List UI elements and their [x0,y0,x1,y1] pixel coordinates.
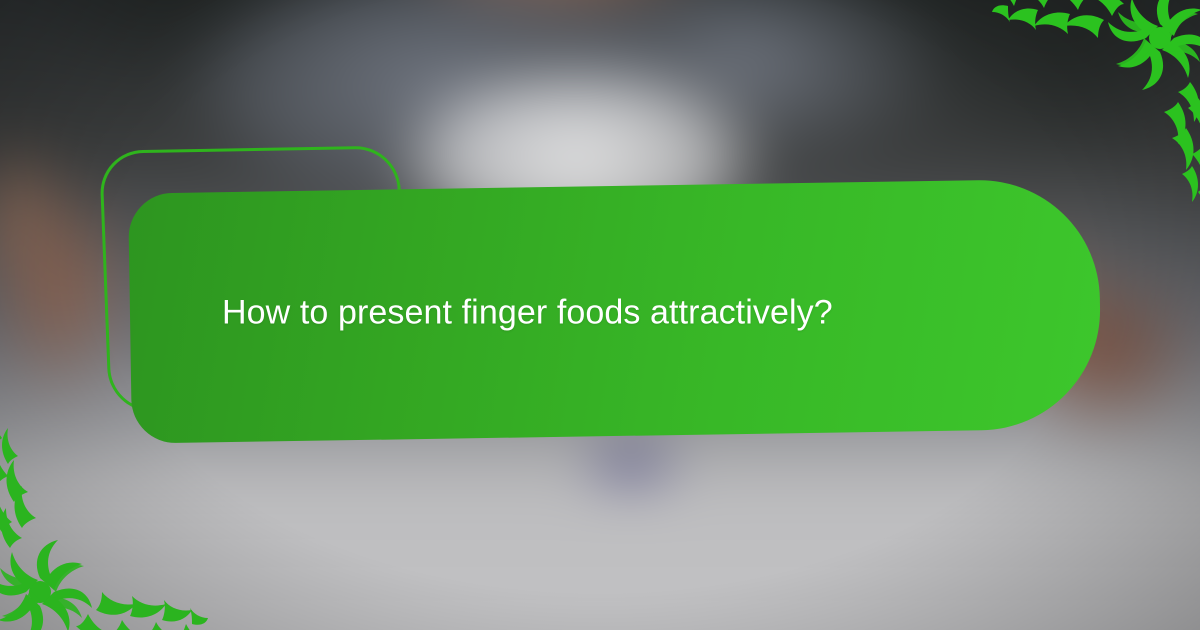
damask-corner-top-right-icon [992,0,1200,206]
page-title: How to present finger foods attractively… [130,291,929,334]
poster-canvas: How to present finger foods attractively… [0,0,1200,630]
damask-corner-bottom-left-icon [0,424,208,630]
title-card: How to present finger foods attractively… [128,178,1102,443]
